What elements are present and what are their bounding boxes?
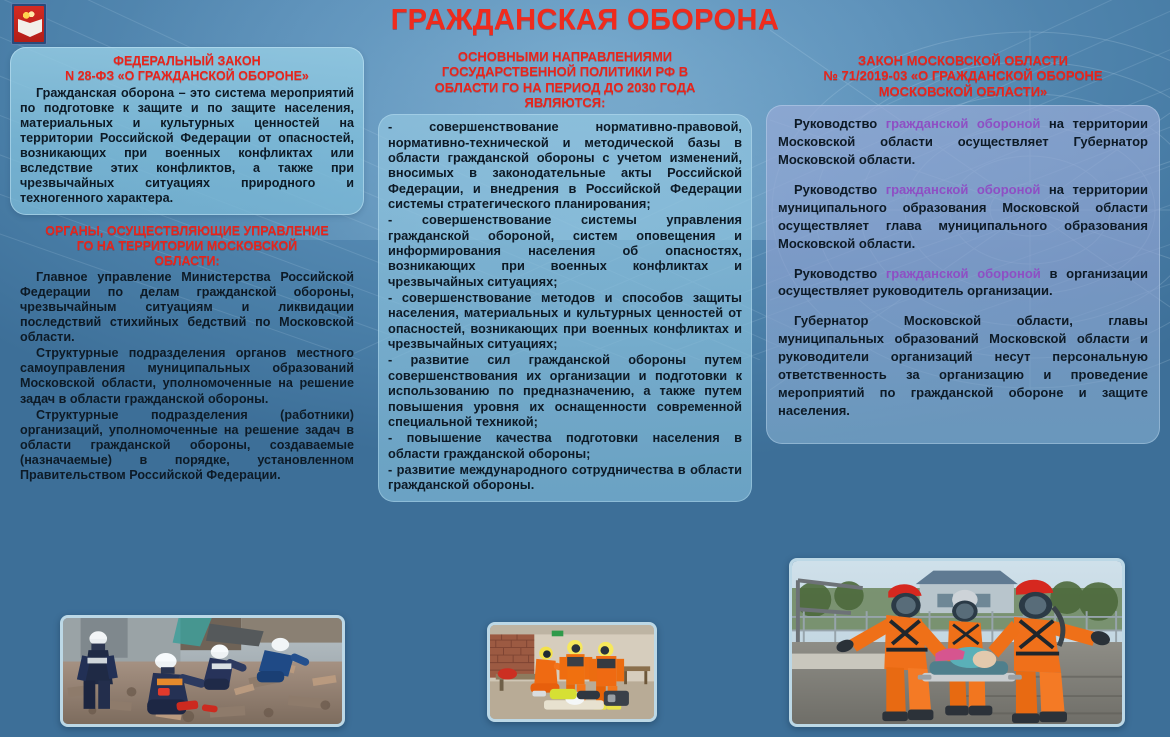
poster-header: ГРАЖДАНСКАЯ ОБОРОНА [0, 0, 1170, 46]
federal-law-panel: ФЕДЕРАЛЬНЫЙ ЗАКОН N 28-ФЗ «О ГРАЖДАНСКОЙ… [10, 47, 364, 215]
p2-lead: Руководство [794, 182, 886, 197]
p3-lead: Руководство [794, 266, 886, 281]
oblast-law-paragraph-1: Руководство гражданской обороной на терр… [778, 115, 1148, 169]
state-policy-list: - совершенствование нормативно-правовой,… [388, 119, 742, 492]
oblast-law-heading: ЗАКОН МОСКОВСКОЙ ОБЛАСТИ № 71/2019-03 «О… [766, 53, 1160, 99]
federal-law-heading-line1: ФЕДЕРАЛЬНЫЙ ЗАКОН [20, 54, 354, 69]
management-bodies-heading-line1: ОРГАНЫ, ОСУЩЕСТВЛЯЮЩИЕ УПРАВЛЕНИЕ [20, 224, 354, 239]
photo-rubble-image [63, 618, 342, 724]
management-bodies-heading: ОРГАНЫ, ОСУЩЕСТВЛЯЮЩИЕ УПРАВЛЕНИЕ ГО НА … [20, 224, 354, 268]
photo-stretcher-image [792, 561, 1122, 724]
oblast-law-body: Руководство гражданской обороной на терр… [778, 115, 1148, 420]
state-policy-heading-line2: ГОСУДАРСТВЕННОЙ ПОЛИТИКИ РФ В [378, 64, 752, 79]
state-policy-heading-line4: ЯВЛЯЮТСЯ: [378, 95, 752, 110]
state-policy-panel: - совершенствование нормативно-правовой,… [378, 114, 752, 501]
state-policy-heading-line1: ОСНОВНЫМИ НАПРАВЛЕНИЯМИ [378, 49, 752, 64]
federal-law-text: Гражданская оборона – это система меропр… [20, 86, 354, 207]
p1-highlight: гражданской обороной [886, 116, 1041, 131]
state-policy-item: - развитие сил гражданской обороны путем… [388, 352, 742, 429]
management-bodies-panel: ОРГАНЫ, ОСУЩЕСТВЛЯЮЩИЕ УПРАВЛЕНИЕ ГО НА … [10, 215, 364, 492]
federal-law-heading: ФЕДЕРАЛЬНЫЙ ЗАКОН N 28-ФЗ «О ГРАЖДАНСКОЙ… [20, 54, 354, 84]
management-bodies-body: Главное управление Министерства Российск… [20, 270, 354, 484]
management-bodies-paragraph: Структурные подразделения (работники) ор… [20, 408, 354, 484]
photo-stretcher [789, 558, 1125, 727]
state-policy-heading-line3: ОБЛАСТИ ГО НА ПЕРИОД ДО 2030 ГОДА [378, 80, 752, 95]
photo-rubble [60, 615, 345, 727]
oblast-law-heading-line1: ЗАКОН МОСКОВСКОЙ ОБЛАСТИ [766, 53, 1160, 68]
oblast-law-panel: Руководство гражданской обороной на терр… [766, 105, 1160, 444]
management-bodies-paragraph: Главное управление Министерства Российск… [20, 270, 354, 346]
state-policy-heading: ОСНОВНЫМИ НАПРАВЛЕНИЯМИ ГОСУДАРСТВЕННОЙ … [378, 49, 752, 110]
federal-law-heading-line2: N 28-ФЗ «О ГРАЖДАНСКОЙ ОБОРОНЕ» [20, 69, 354, 84]
oblast-law-heading-line2: № 71/2019-03 «О ГРАЖДАНСКОЙ ОБОРОНЕ [766, 68, 1160, 83]
oblast-law-heading-line3: МОСКОВСКОЙ ОБЛАСТИ» [766, 84, 1160, 99]
page-title: ГРАЖДАНСКАЯ ОБОРОНА [0, 4, 1170, 37]
p2-highlight: гражданской обороной [886, 182, 1041, 197]
state-policy-item: - совершенствование нормативно-правовой,… [388, 119, 742, 211]
p1-lead: Руководство [794, 116, 886, 131]
state-policy-item: - повышение качества подготовки населени… [388, 430, 742, 461]
photo-drill-image [490, 625, 654, 719]
federal-law-body: Гражданская оборона – это система меропр… [20, 86, 354, 207]
management-bodies-heading-line2: ГО НА ТЕРРИТОРИИ МОСКОВСКОЙ [20, 239, 354, 254]
poster-root: ГРАЖДАНСКАЯ ОБОРОНА ФЕДЕРАЛЬНЫЙ ЗАКОН N … [0, 0, 1170, 737]
state-policy-item: - совершенствование системы управления г… [388, 212, 742, 289]
photo-drill [487, 622, 657, 722]
state-policy-item: - совершенствование методов и способов з… [388, 290, 742, 351]
management-bodies-paragraph: Структурные подразделения органов местно… [20, 346, 354, 406]
management-bodies-heading-line3: ОБЛАСТИ: [20, 254, 354, 269]
oblast-law-paragraph-4: Губернатор Московской области, главы мун… [778, 312, 1148, 420]
oblast-law-paragraph-3: Руководство гражданской обороной в орган… [778, 265, 1148, 301]
state-policy-item: - развитие международного сотрудничества… [388, 462, 742, 493]
oblast-law-paragraph-2: Руководство гражданской обороной на терр… [778, 181, 1148, 253]
p3-highlight: гражданской обороной [886, 266, 1041, 281]
